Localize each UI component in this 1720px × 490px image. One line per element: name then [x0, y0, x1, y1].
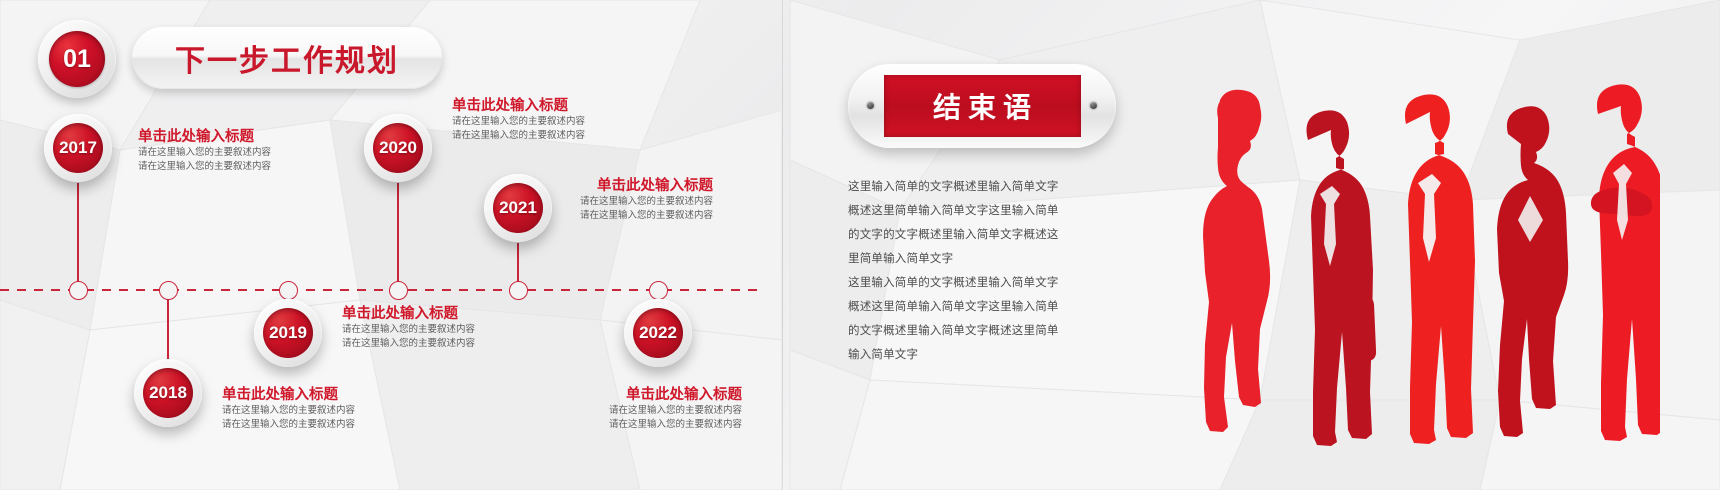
timeline-node-6[interactable]	[649, 281, 668, 300]
item-line-2020-1: 请在这里输入您的主要叙述内容	[452, 115, 585, 128]
section-number-label: 01	[63, 45, 91, 74]
section-number-inner: 01	[49, 31, 105, 87]
item-heading-2022: 单击此处输入标题	[470, 386, 742, 404]
timeline-node-3[interactable]	[279, 281, 298, 300]
body-line-3: 的文字的文字概述里输入简单文字概述这	[848, 223, 1106, 246]
year-bubble-2021-inner: 2021	[493, 183, 543, 233]
silhouette-woman-2	[1497, 106, 1568, 437]
item-line-2022-1: 请在这里输入您的主要叙述内容	[470, 404, 742, 417]
timeline-item-text-2018: 单击此处输入标题 请在这里输入您的主要叙述内容 请在这里输入您的主要叙述内容	[222, 386, 355, 431]
year-bubble-2022[interactable]: 2022	[624, 299, 692, 367]
body-line-2: 概述这里简单输入简单文字这里输入简单	[848, 199, 1106, 222]
item-line-2022-2: 请在这里输入您的主要叙述内容	[470, 418, 742, 431]
item-line-2018-2: 请在这里输入您的主要叙述内容	[222, 418, 355, 431]
item-heading-2018: 单击此处输入标题	[222, 386, 355, 404]
year-label-2017: 2017	[59, 138, 97, 158]
timeline-dashed-line	[0, 289, 760, 291]
year-label-2020: 2020	[379, 138, 417, 158]
slide-root: 01 下一步工作规划 2017 2018 2019 2020	[0, 0, 1720, 490]
year-label-2021: 2021	[499, 198, 537, 218]
plaque-title: 结束语	[926, 86, 1038, 126]
timeline-item-text-2020: 单击此处输入标题 请在这里输入您的主要叙述内容 请在这里输入您的主要叙述内容	[452, 97, 585, 142]
year-label-2018: 2018	[149, 383, 187, 403]
screw-icon-right	[1090, 102, 1097, 109]
business-people-silhouettes	[1160, 78, 1660, 468]
page-title: 下一步工作规划	[175, 36, 399, 80]
item-heading-2017: 单击此处输入标题	[138, 128, 271, 146]
year-bubble-2018[interactable]: 2018	[134, 359, 202, 427]
silhouette-man-1	[1307, 110, 1377, 446]
page-title-pill: 下一步工作规划	[132, 27, 442, 89]
timeline-node-5[interactable]	[509, 281, 528, 300]
body-line-5: 这里输入简单的文字概述里输入简单文字	[848, 271, 1106, 294]
item-line-2021-1: 请在这里输入您的主要叙述内容	[441, 195, 713, 208]
year-label-2022: 2022	[639, 323, 677, 343]
year-bubble-2019-inner: 2019	[263, 308, 313, 358]
body-line-6: 概述这里简单输入简单文字这里输入简单	[848, 295, 1106, 318]
year-bubble-2018-inner: 2018	[143, 368, 193, 418]
year-label-2019: 2019	[269, 323, 307, 343]
year-bubble-2017[interactable]: 2017	[44, 114, 112, 182]
plaque-red-panel: 结束语	[884, 75, 1081, 137]
item-heading-2019: 单击此处输入标题	[342, 305, 475, 323]
year-bubble-2021[interactable]: 2021	[484, 174, 552, 242]
timeline-stem-2020	[397, 183, 399, 290]
timeline-item-text-2022: 单击此处输入标题 请在这里输入您的主要叙述内容 请在这里输入您的主要叙述内容	[470, 386, 742, 431]
timeline-item-text-2019: 单击此处输入标题 请在这里输入您的主要叙述内容 请在这里输入您的主要叙述内容	[342, 305, 475, 350]
item-heading-2020: 单击此处输入标题	[452, 97, 585, 115]
item-line-2019-1: 请在这里输入您的主要叙述内容	[342, 323, 475, 336]
silhouette-man-3	[1591, 84, 1660, 441]
body-line-1: 这里输入简单的文字概述里输入简单文字	[848, 175, 1106, 198]
item-line-2021-2: 请在这里输入您的主要叙述内容	[441, 209, 713, 222]
timeline-item-text-2021: 单击此处输入标题 请在这里输入您的主要叙述内容 请在这里输入您的主要叙述内容	[441, 177, 713, 222]
section-number-badge: 01	[38, 20, 116, 98]
silhouette-man-2	[1405, 94, 1475, 444]
timeline-item-text-2017: 单击此处输入标题 请在这里输入您的主要叙述内容 请在这里输入您的主要叙述内容	[138, 128, 271, 173]
timeline-stem-2018	[167, 290, 169, 362]
body-line-7: 的文字概述里输入简单文字概述这里简单	[848, 319, 1106, 342]
year-bubble-2017-inner: 2017	[53, 123, 103, 173]
item-line-2020-2: 请在这里输入您的主要叙述内容	[452, 129, 585, 142]
panel-divider	[782, 0, 783, 490]
timeline-node-4[interactable]	[389, 281, 408, 300]
conclusion-plaque: 结束语	[848, 64, 1116, 148]
body-line-8: 输入简单文字	[848, 343, 1106, 366]
item-line-2019-2: 请在这里输入您的主要叙述内容	[342, 337, 475, 350]
timeline-stem-2017	[77, 183, 79, 290]
screw-icon-left	[867, 102, 874, 109]
year-bubble-2022-inner: 2022	[633, 308, 683, 358]
body-line-4: 里简单输入简单文字	[848, 247, 1106, 270]
item-heading-2021: 单击此处输入标题	[441, 177, 713, 195]
timeline-node-2[interactable]	[159, 281, 178, 300]
timeline-node-1[interactable]	[69, 281, 88, 300]
year-bubble-2019[interactable]: 2019	[254, 299, 322, 367]
item-line-2017-1: 请在这里输入您的主要叙述内容	[138, 146, 271, 159]
item-line-2018-1: 请在这里输入您的主要叙述内容	[222, 404, 355, 417]
year-bubble-2020[interactable]: 2020	[364, 114, 432, 182]
year-bubble-2020-inner: 2020	[373, 123, 423, 173]
item-line-2017-2: 请在这里输入您的主要叙述内容	[138, 160, 271, 173]
silhouette-woman-1	[1203, 90, 1270, 432]
conclusion-body: 这里输入简单的文字概述里输入简单文字 概述这里简单输入简单文字这里输入简单 的文…	[848, 175, 1106, 367]
